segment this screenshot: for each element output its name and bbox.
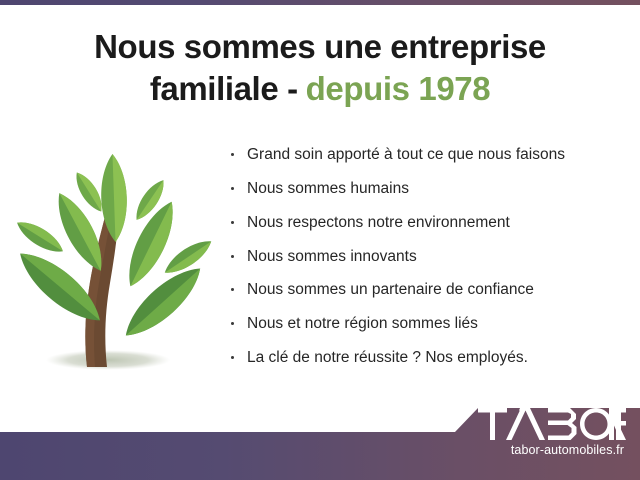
bullet-dot-icon: [231, 221, 234, 224]
bullet-dot-icon: [231, 356, 234, 359]
list-item-label: Nous et notre région sommes liés: [247, 315, 478, 332]
footer-banner: tabor-automobiles.fr: [0, 400, 640, 480]
list-item-label: Nous sommes innovants: [247, 248, 417, 265]
top-accent-strip: [0, 0, 640, 5]
list-item-label: Grand soin apporté à tout ce que nous fa…: [247, 146, 565, 163]
leaf-far-left-small: [13, 216, 68, 259]
heading-accent-year: depuis 1978: [306, 70, 491, 107]
page-title: Nous sommes une entreprise familiale -de…: [0, 26, 640, 110]
list-item: Nous et notre région sommes liés: [228, 315, 628, 332]
bullet-dot-icon: [231, 288, 234, 291]
list-item-label: La clé de notre réussite ? Nos employés.: [247, 349, 528, 366]
tabor-wordmark-icon: [478, 408, 626, 440]
list-item: Nous sommes un partenaire de confiance: [228, 281, 628, 298]
list-item-label: Nous sommes un partenaire de confiance: [247, 281, 534, 298]
heading-dash: -: [287, 70, 298, 107]
brand-logo[interactable]: tabor-automobiles.fr: [456, 408, 626, 457]
tree-svg: [8, 152, 220, 388]
slide-canvas: Nous sommes une entreprise familiale -de…: [0, 0, 640, 480]
tree-illustration: [8, 152, 220, 388]
bullet-dot-icon: [231, 153, 234, 156]
bullet-dot-icon: [231, 255, 234, 258]
list-item: Nous sommes innovants: [228, 248, 628, 265]
benefits-list: Grand soin apporté à tout ce que nous fa…: [228, 146, 628, 383]
heading-line-2-main: familiale: [150, 70, 278, 107]
list-item-label: Nous respectons notre environnement: [247, 214, 510, 231]
tree-shadow: [46, 350, 170, 370]
list-item: Nous sommes humains: [228, 180, 628, 197]
list-item: Nous respectons notre environnement: [228, 214, 628, 231]
heading-line-1: Nous sommes une entreprise: [94, 28, 546, 65]
list-item-label: Nous sommes humains: [247, 180, 409, 197]
bullet-dot-icon: [231, 187, 234, 190]
list-item: La clé de notre réussite ? Nos employés.: [228, 349, 628, 366]
bullet-dot-icon: [231, 322, 234, 325]
list-item: Grand soin apporté à tout ce que nous fa…: [228, 146, 628, 163]
logo-tagline: tabor-automobiles.fr: [456, 443, 626, 457]
